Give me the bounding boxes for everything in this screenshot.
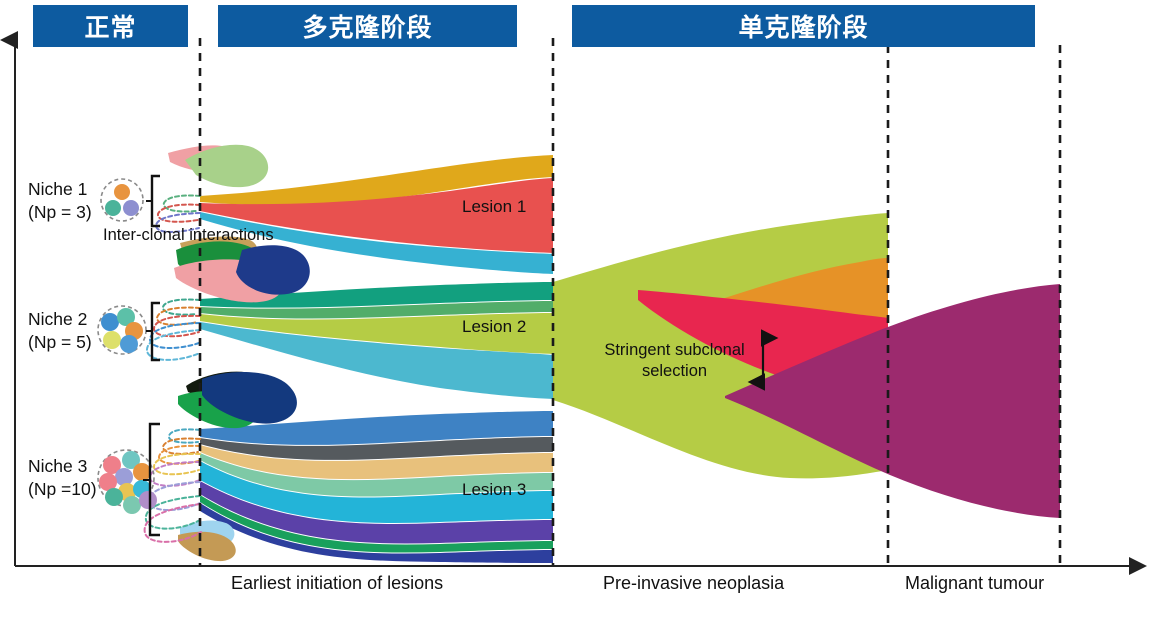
niche-2-dot-blue2 (120, 335, 138, 353)
niche-2-dot-yellow (103, 331, 121, 349)
niche-3-name: Niche 3 (28, 455, 97, 478)
stringent-line-1: Stringent subclonal (597, 340, 752, 361)
niche-1-dot-orange (114, 184, 130, 200)
niche-3-dot-green (105, 488, 123, 506)
x-label-malignant-tumour: Malignant tumour (905, 573, 1044, 594)
niche-3-dot-mint2 (123, 496, 141, 514)
clone-seed-loops-niche2 (147, 299, 200, 359)
clonal-evolution-diagram (0, 0, 1156, 622)
niche-1-circle-group (101, 179, 143, 221)
niche-1-name: Niche 1 (28, 178, 92, 201)
niche-2-label-group: Niche 2 (Np = 5) (28, 308, 92, 354)
niche-2-name: Niche 2 (28, 308, 92, 331)
x-label-earliest-initiation: Earliest initiation of lesions (231, 573, 443, 594)
phase-bar-polyclonal[interactable]: 多克隆阶段 (218, 5, 517, 47)
lesion-1-label: Lesion 1 (462, 197, 526, 217)
lesion-3-label: Lesion 3 (462, 480, 526, 500)
stringent-line-2: selection (597, 361, 752, 382)
niche-3-circle-group (98, 450, 157, 514)
niche-3-dot-orange (133, 463, 151, 481)
niche-2-circle-group (98, 306, 146, 354)
niche-1-dot-teal (105, 200, 121, 216)
niche-1-label-group: Niche 1 (Np = 3) (28, 178, 92, 224)
niche-2-dot-blue (101, 313, 119, 331)
extinct-clone-blobs-group-2 (178, 372, 297, 429)
niche-1-dot-purple (123, 200, 139, 216)
niche-3-dot-violet (139, 491, 157, 509)
x-label-pre-invasive: Pre-invasive neoplasia (603, 573, 784, 594)
stringent-selection-label: Stringent subclonal selection (597, 340, 752, 382)
niche-1-np: (Np = 3) (28, 201, 92, 224)
lesion-2-label: Lesion 2 (462, 317, 526, 337)
niche-3-np: (Np =10) (28, 478, 97, 501)
niche-3-label-group: Niche 3 (Np =10) (28, 455, 97, 501)
phase-bar-monoclonal[interactable]: 单克隆阶段 (572, 5, 1035, 47)
phase-bar-normal[interactable]: 正常 (33, 5, 188, 47)
figure-canvas: 正常 多克隆阶段 单克隆阶段 Niche 1 (Np = 3) Niche 2 … (0, 0, 1156, 622)
niche-3-dot-lav (115, 468, 133, 486)
niche-2-np: (Np = 5) (28, 331, 92, 354)
inter-clonal-interactions-label: Inter-clonal interactions (103, 226, 274, 245)
extinct-clone-blobs-group-3 (178, 521, 236, 562)
